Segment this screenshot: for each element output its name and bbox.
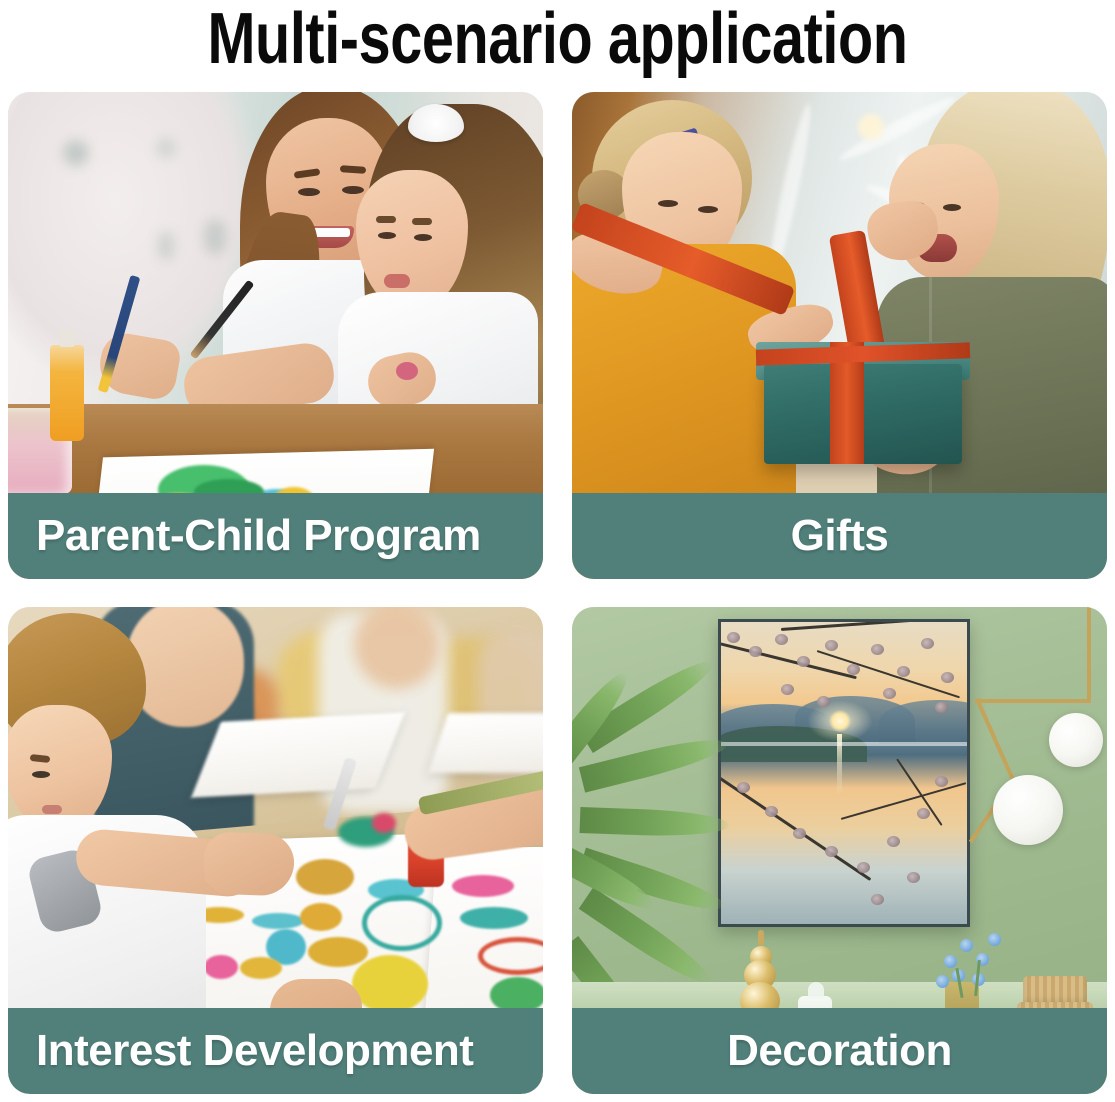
background-dot [63,140,89,166]
branch [841,782,967,820]
blossom [797,656,810,667]
blossom [897,666,910,677]
blossom [921,638,934,649]
caption-label: Decoration [727,1026,952,1076]
background-dot [156,138,176,158]
boy-hand [203,831,295,896]
paint-outline-teal [362,895,442,951]
blossom [857,862,870,873]
paper-background [191,712,405,797]
paint-mark-gold [240,957,282,979]
page-title: Multi-scenario application [112,0,1004,82]
waterline [721,742,967,746]
globe-lamp [993,775,1063,845]
blossom [817,696,830,707]
paint-mark-teal [252,913,304,929]
lamp-rod [1087,607,1091,699]
glass-jar-lid [808,982,824,998]
blossom [871,894,884,905]
paint-smudge [396,362,418,380]
blossom [793,828,806,839]
blossom [941,672,954,683]
boy-mouth [42,805,62,814]
blossom [727,632,740,643]
blossom [917,808,930,819]
blossom [825,640,838,651]
paint-mark-yellow [352,955,428,1013]
caption-label: Gifts [791,511,889,561]
background-dot [204,220,226,254]
blossom [883,688,896,699]
blossom [847,664,860,675]
juice-bottle [50,345,84,441]
mother-eye [342,186,364,194]
hair-bow [408,104,464,142]
scenario-grid: Parent-Child Program [8,92,1107,1094]
blossom [749,646,762,657]
paint-mark-pink [452,875,514,897]
background-dot [158,232,174,260]
child-eyebrow [376,216,396,223]
caption-label: Interest Development [36,1026,473,1076]
caption-label: Parent-Child Program [36,511,481,561]
blossom [887,836,900,847]
lamp-rod [975,699,1091,703]
scenario-card-interest-development[interactable]: Interest Development [8,607,543,1094]
blossom [775,634,788,645]
caption-bar: Decoration [572,1008,1107,1094]
blossom [907,872,920,883]
child-eye [378,232,396,239]
woman-eye [943,204,961,211]
girl-eye [658,200,678,207]
child-eyebrow [412,218,432,225]
blossom [935,702,948,713]
mother-eye [298,188,320,196]
palm-frond [580,807,731,838]
blossom [825,846,838,857]
blossom [781,684,794,695]
sun [829,710,851,732]
gold-ornament-finial [758,930,764,946]
window-light [858,114,884,140]
branch [781,619,970,631]
boy-eye [32,771,50,778]
scenario-card-gifts[interactable]: Gifts [572,92,1107,579]
globe-lamp [1049,713,1103,767]
caption-bar: Gifts [572,493,1107,579]
scenario-card-parent-child-program[interactable]: Parent-Child Program [8,92,543,579]
child-mouth [384,274,410,288]
child-eye [414,234,432,241]
blue-flower [944,955,957,968]
paint-palette-blob [372,813,396,833]
paint-mark-gold [296,859,354,895]
framed-painting [718,619,970,927]
blossom [871,644,884,655]
paint-mark-pink [204,955,238,979]
caption-bar: Interest Development [8,1008,543,1094]
blue-flower [936,975,949,988]
paint-mark-gold [308,937,368,967]
paint-mark-gold [300,903,342,931]
scenario-card-decoration[interactable]: Decoration [572,607,1107,1094]
blue-flower [960,939,973,952]
blue-flower [988,933,1001,946]
paint-mark-teal [460,907,528,929]
paper-background [428,713,543,773]
caption-bar: Parent-Child Program [8,493,543,579]
blossom [935,776,948,787]
blossom [765,806,778,817]
girl-eye [698,206,718,213]
